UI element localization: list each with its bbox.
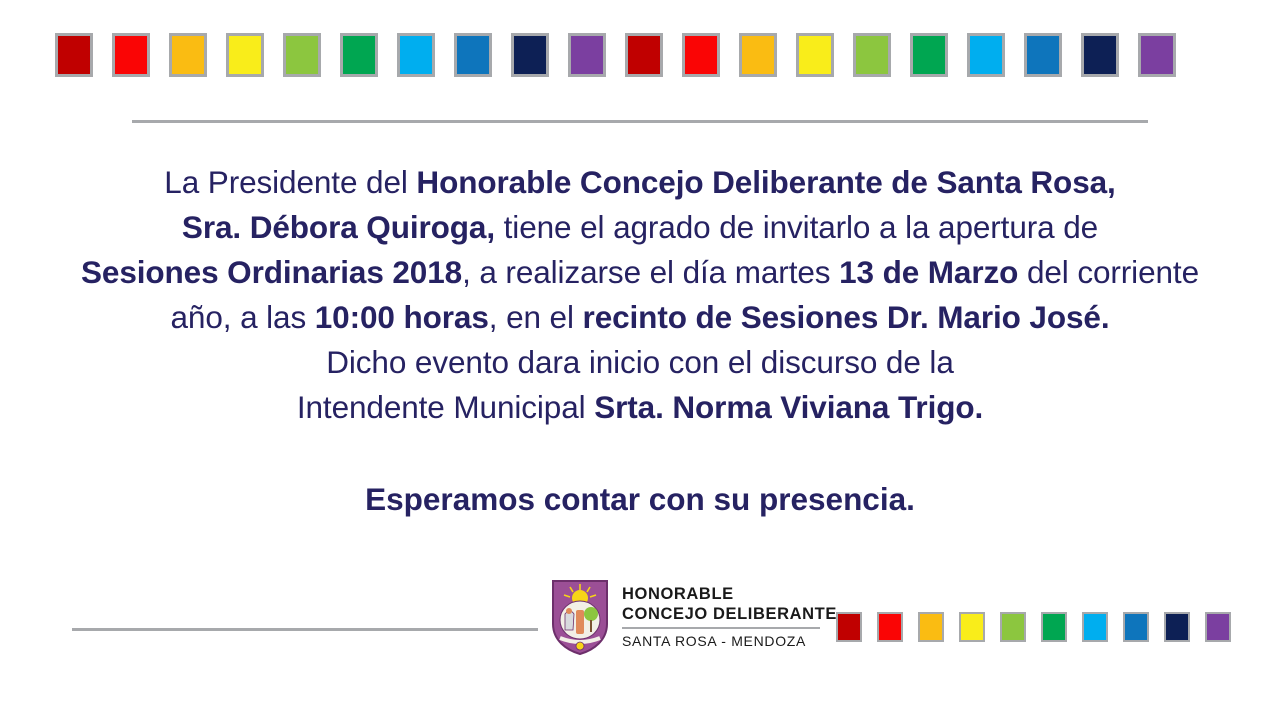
color-swatch-12 xyxy=(739,33,777,77)
invitation-line-3: año, a las 10:00 horas, en el recinto de… xyxy=(40,295,1240,340)
color-swatch-8 xyxy=(511,33,549,77)
footer-color-swatch-2 xyxy=(918,612,944,642)
color-swatch-7 xyxy=(454,33,492,77)
footer-color-strip xyxy=(836,612,1231,642)
color-swatch-5 xyxy=(340,33,378,77)
color-swatch-4 xyxy=(283,33,321,77)
footer-line-honorable: HONORABLE xyxy=(622,584,837,604)
invitation-line-2: Sesiones Ordinarias 2018, a realizarse e… xyxy=(40,250,1240,295)
invitation-body: La Presidente del Honorable Concejo Deli… xyxy=(40,160,1240,430)
color-swatch-3 xyxy=(226,33,264,77)
footer-color-swatch-1 xyxy=(877,612,903,642)
footer-line-location: SANTA ROSA - MENDOZA xyxy=(622,632,837,650)
color-swatch-15 xyxy=(910,33,948,77)
footer-color-swatch-0 xyxy=(836,612,862,642)
invitation-line-0: La Presidente del Honorable Concejo Deli… xyxy=(40,160,1240,205)
footer-color-swatch-6 xyxy=(1082,612,1108,642)
bottom-divider xyxy=(72,628,538,631)
color-swatch-9 xyxy=(568,33,606,77)
invitation-line-4: Dicho evento dara inicio con el discurso… xyxy=(40,340,1240,385)
color-swatch-18 xyxy=(1081,33,1119,77)
footer-text-block: HONORABLE CONCEJO DELIBERANTE SANTA ROSA… xyxy=(622,584,837,650)
color-swatch-6 xyxy=(397,33,435,77)
color-swatch-0 xyxy=(55,33,93,77)
footer-logo-block: HONORABLE CONCEJO DELIBERANTE SANTA ROSA… xyxy=(550,578,837,656)
invitation-line-5: Intendente Municipal Srta. Norma Viviana… xyxy=(40,385,1240,430)
color-swatch-16 xyxy=(967,33,1005,77)
crest-icon xyxy=(550,578,610,656)
color-swatch-14 xyxy=(853,33,891,77)
footer-text-divider xyxy=(622,627,820,629)
color-swatch-2 xyxy=(169,33,207,77)
color-swatch-17 xyxy=(1024,33,1062,77)
color-swatch-1 xyxy=(112,33,150,77)
footer-color-swatch-7 xyxy=(1123,612,1149,642)
top-divider xyxy=(132,120,1148,123)
footer-color-swatch-9 xyxy=(1205,612,1231,642)
footer-color-swatch-8 xyxy=(1164,612,1190,642)
color-swatch-19 xyxy=(1138,33,1176,77)
footer-color-swatch-5 xyxy=(1041,612,1067,642)
color-swatch-10 xyxy=(625,33,663,77)
footer-color-swatch-3 xyxy=(959,612,985,642)
invitation-page: La Presidente del Honorable Concejo Deli… xyxy=(0,0,1280,702)
color-swatch-11 xyxy=(682,33,720,77)
invitation-closing: Esperamos contar con su presencia. xyxy=(40,478,1240,520)
footer-color-swatch-4 xyxy=(1000,612,1026,642)
top-color-strip xyxy=(55,33,1235,77)
color-swatch-13 xyxy=(796,33,834,77)
footer-line-concejo-deliberante: CONCEJO DELIBERANTE xyxy=(622,604,837,624)
invitation-line-1: Sra. Débora Quiroga, tiene el agrado de … xyxy=(40,205,1240,250)
